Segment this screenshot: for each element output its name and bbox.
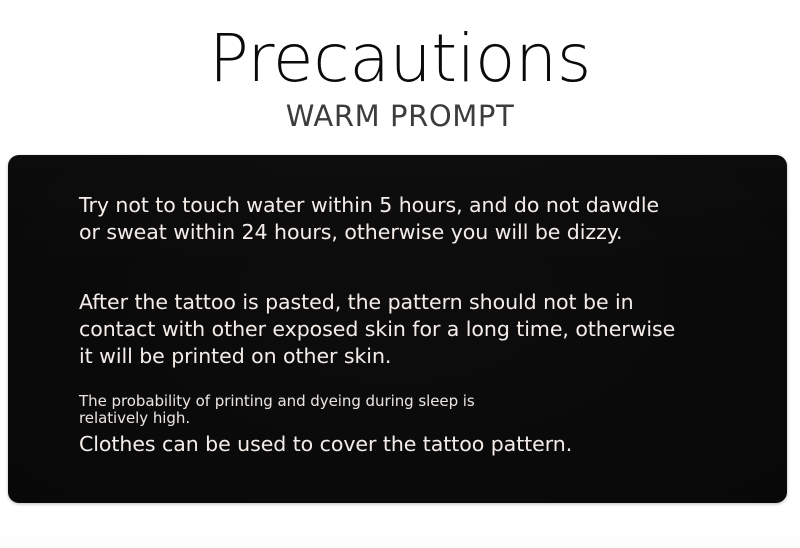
paragraph-line: Try not to touch water within 5 hours, a… [79,192,719,219]
precaution-paragraph-cover-with-clothes: Clothes can be used to cover the tattoo … [79,431,679,458]
paragraph-line: it will be printed on other skin. [79,343,727,370]
paragraph-line: Clothes can be used to cover the tattoo … [79,431,679,458]
panel-content: Try not to touch water within 5 hours, a… [79,155,739,503]
precaution-paragraph-water-and-sweat: Try not to touch water within 5 hours, a… [79,192,719,246]
infographic-root: Precautions WARM PROMPT Try not to touch… [0,0,800,548]
paragraph-line: relatively high. [79,410,599,427]
paragraph-line: The probability of printing and dyeing d… [79,393,599,410]
page-title: Precautions [0,26,800,92]
paragraph-line: or sweat within 24 hours, otherwise you … [79,219,719,246]
precautions-panel: Try not to touch water within 5 hours, a… [8,155,787,503]
precaution-paragraph-sleep-probability: The probability of printing and dyeing d… [79,393,599,426]
paragraph-line: contact with other exposed skin for a lo… [79,316,727,343]
page-subtitle: WARM PROMPT [0,102,800,131]
precaution-paragraph-exposed-skin-contact: After the tattoo is pasted, the pattern … [79,289,727,370]
paragraph-line: After the tattoo is pasted, the pattern … [79,289,727,316]
